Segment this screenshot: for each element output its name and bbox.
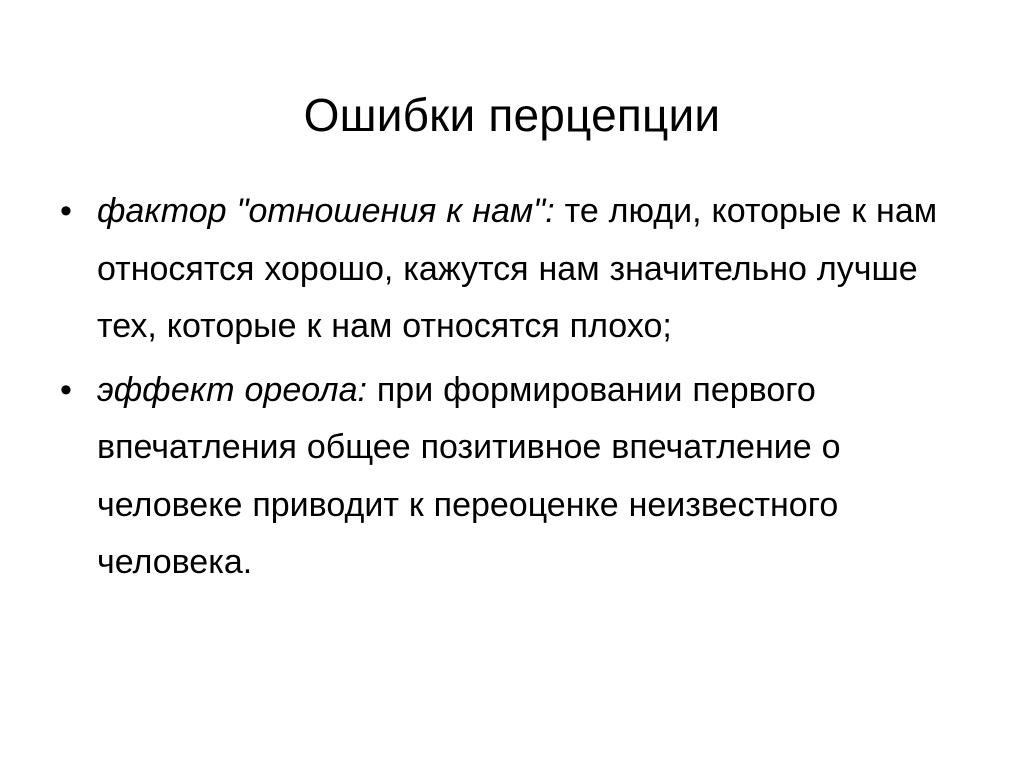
list-item-lead-term: эффект ореола: [97,371,367,409]
page-title: Ошибки перцепции [0,86,1024,144]
slide: Ошибки перцепции • фактор "отношения к н… [0,0,1024,767]
list-item-text: эффект ореола: при формировании первого … [97,362,972,592]
bullet-dot-icon: • [60,362,82,420]
slide-body: • фактор "отношения к нам": те люди, кот… [52,183,972,592]
bullet-dot-icon: • [60,183,82,241]
list-item: • эффект ореола: при формировании первог… [52,362,972,592]
list-item: • фактор "отношения к нам": те люди, кот… [52,183,972,356]
list-item-text: фактор "отношения к нам": те люди, котор… [97,183,972,356]
list-item-lead-term: фактор "отношения к нам": [97,192,555,230]
